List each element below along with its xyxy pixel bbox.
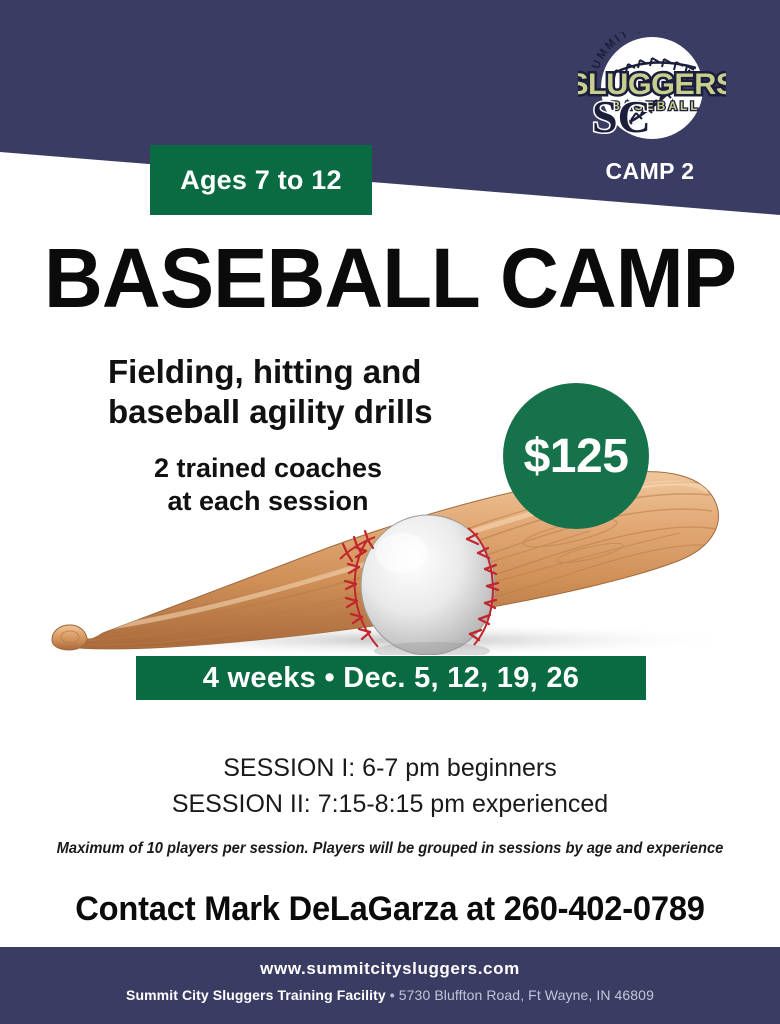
capacity-note: Maximum of 10 players per session. Playe… xyxy=(31,840,749,858)
footer-address: Summit City Sluggers Training Facility •… xyxy=(0,987,780,1003)
session-item-1: SESSION I: 6-7 pm beginners xyxy=(0,750,780,786)
ages-badge-label: Ages 7 to 12 xyxy=(180,165,341,196)
dates-banner-label: 4 weeks • Dec. 5, 12, 19, 26 xyxy=(203,662,579,695)
session-list: SESSION I: 6-7 pm beginners SESSION II: … xyxy=(0,750,780,822)
coaches-line-1: 2 trained coaches xyxy=(108,452,428,485)
footer-street-address: 5730 Bluffton Road, Ft Wayne, IN 46809 xyxy=(399,987,654,1003)
camp-description: Fielding, hitting and baseball agility d… xyxy=(108,352,528,433)
price-amount: $125 xyxy=(524,429,629,484)
dates-banner: 4 weeks • Dec. 5, 12, 19, 26 xyxy=(136,656,646,700)
session-item-2: SESSION II: 7:15-8:15 pm experienced xyxy=(0,786,780,822)
footer-bar: www.summitcitysluggers.com Summit City S… xyxy=(0,947,780,1024)
footer-facility-name: Summit City Sluggers Training Facility xyxy=(126,987,386,1003)
footer-separator: • xyxy=(390,987,395,1003)
coaches-line-2: at each session xyxy=(108,485,428,518)
description-line-1: Fielding, hitting and xyxy=(108,352,528,392)
contact-line: Contact Mark DeLaGarza at 260-402-0789 xyxy=(16,890,765,929)
price-badge: $125 xyxy=(503,383,649,529)
description-line-2: baseball agility drills xyxy=(108,392,528,432)
footer-website[interactable]: www.summitcitysluggers.com xyxy=(0,959,780,979)
camp-number-label: CAMP 2 xyxy=(520,158,780,185)
coaches-note: 2 trained coaches at each session xyxy=(108,452,428,518)
ages-badge: Ages 7 to 12 xyxy=(150,145,372,215)
page-title: BASEBALL CAMP xyxy=(12,236,769,320)
flyer-page: SUMMIT CITY SLUGGERS BASEBALL SC CAMP 2 … xyxy=(0,0,780,1024)
logo-monogram: SC xyxy=(592,91,651,142)
summit-city-sluggers-logo: SUMMIT CITY SLUGGERS BASEBALL SC xyxy=(578,32,726,144)
